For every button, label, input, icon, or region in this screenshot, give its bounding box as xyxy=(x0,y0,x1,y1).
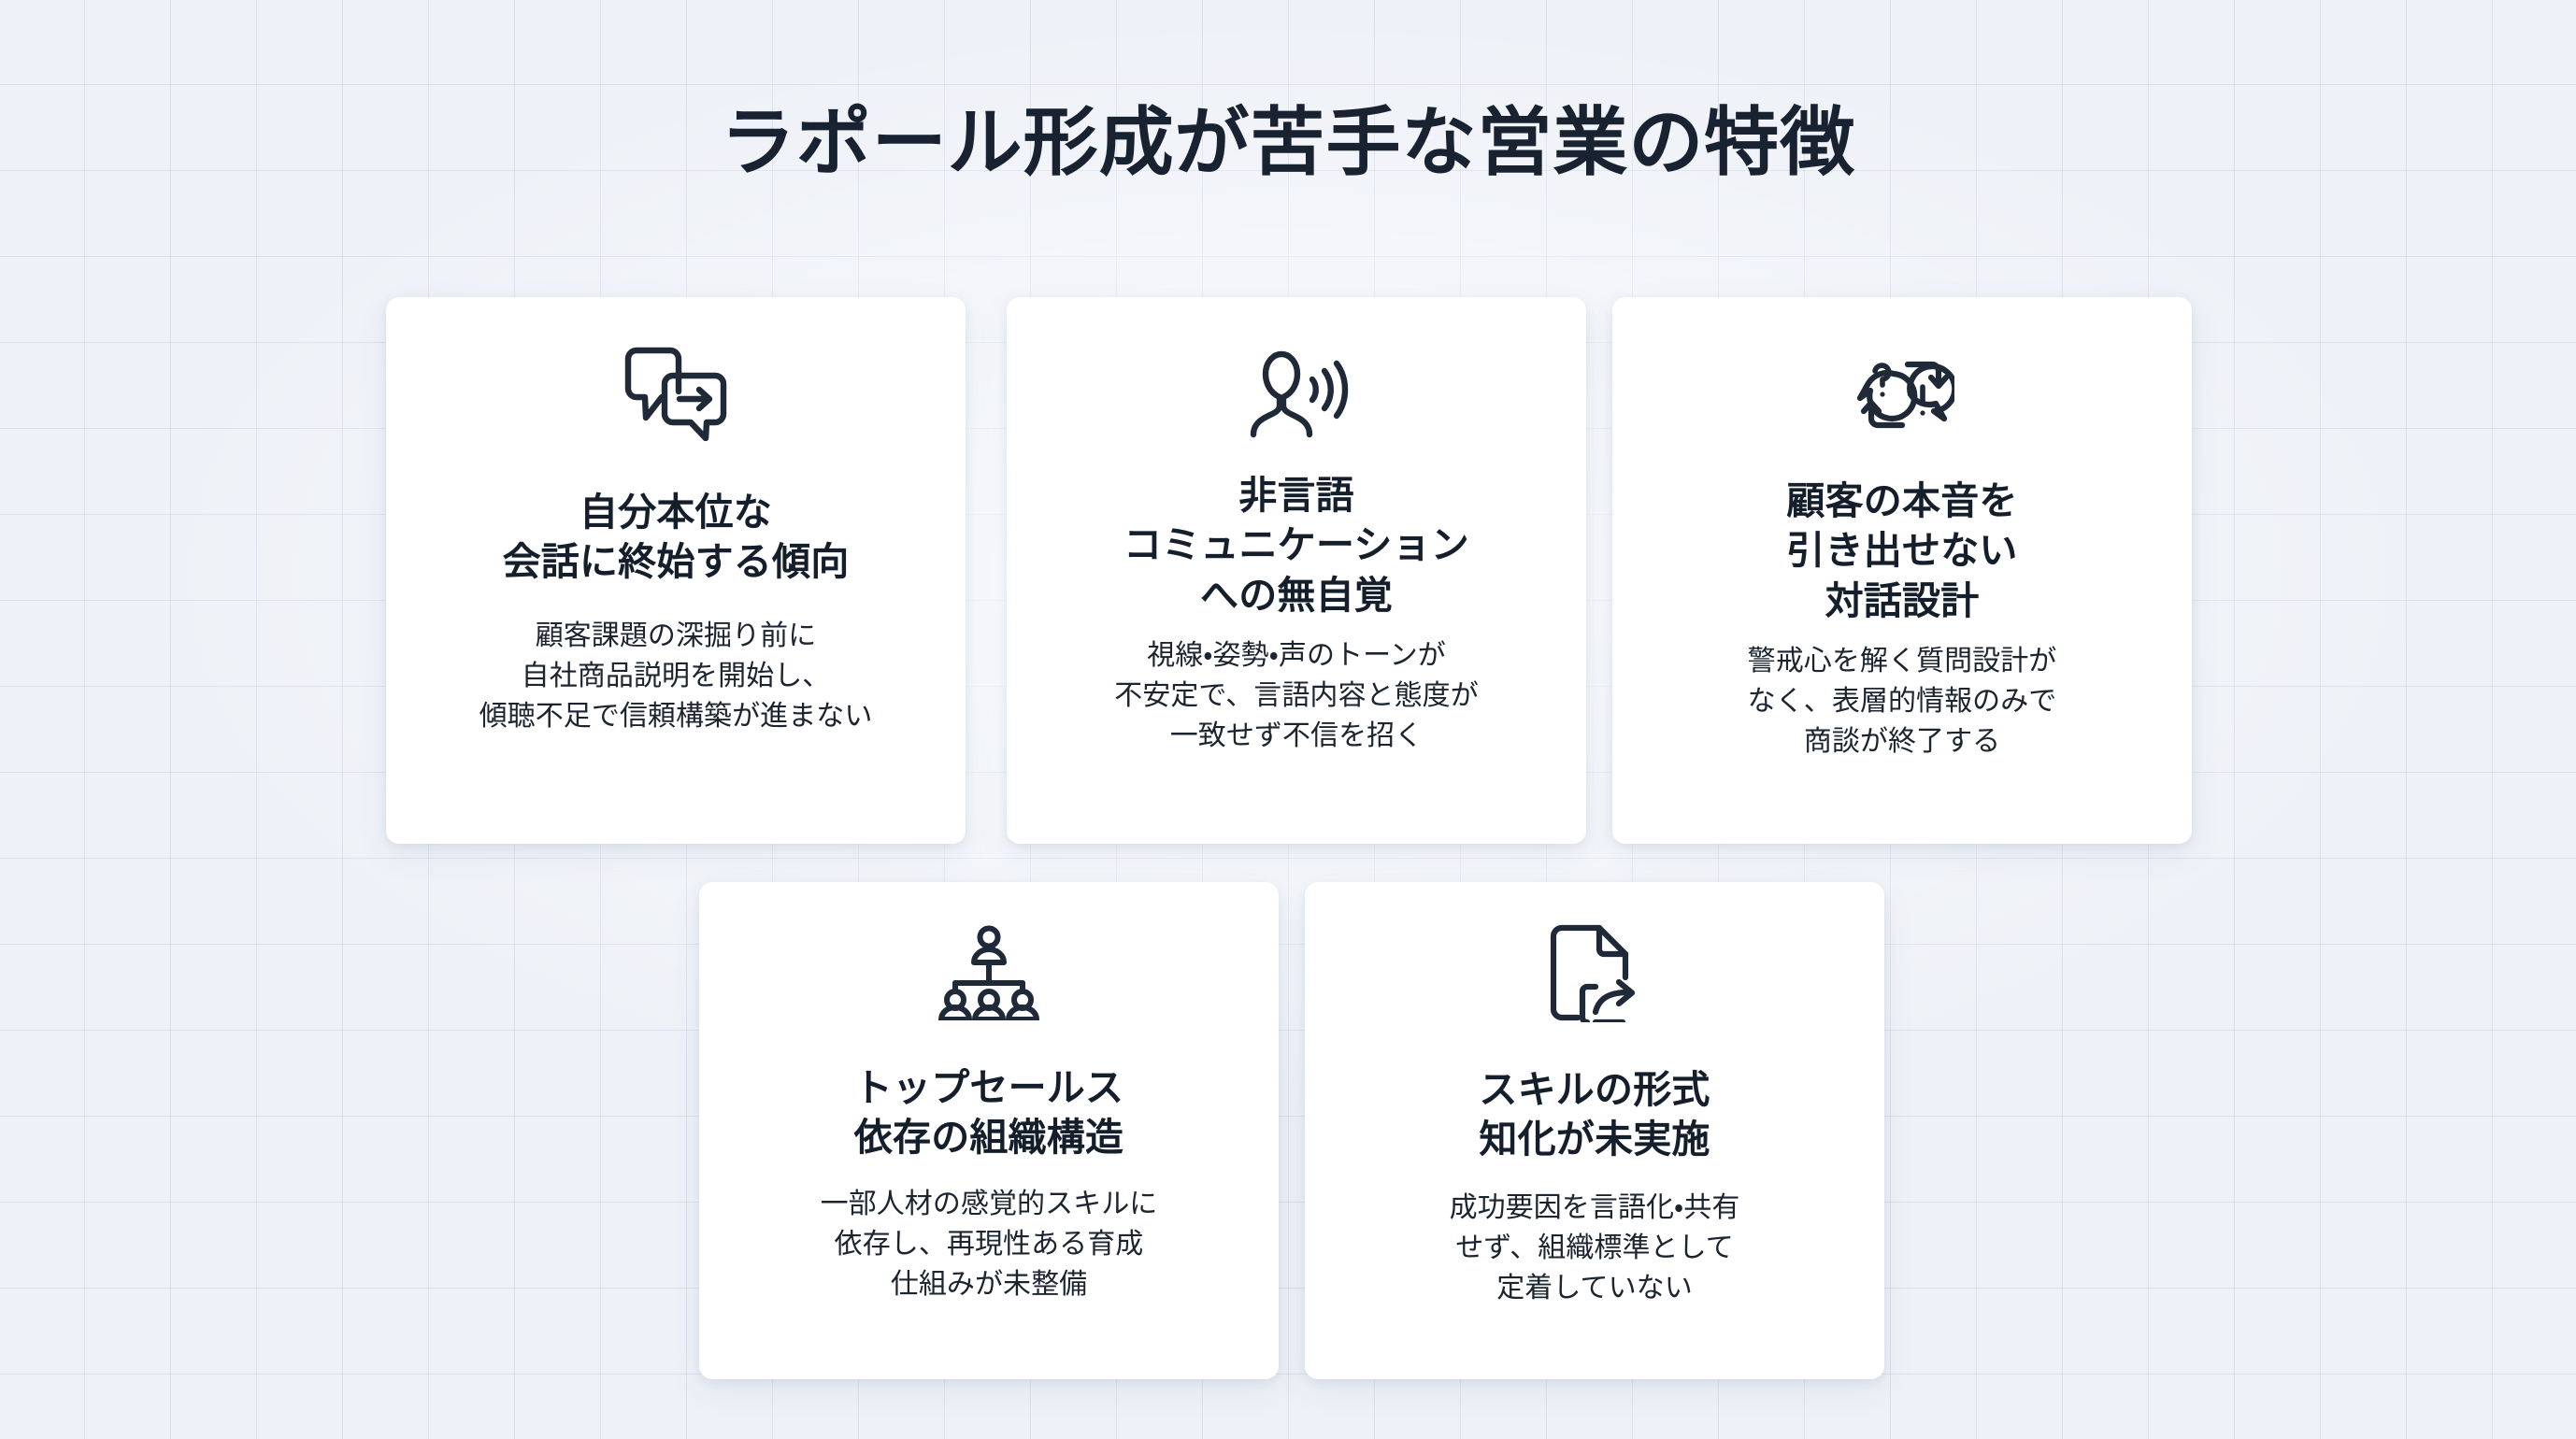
card-title: 非言語 コミュニケーション への無自覚 xyxy=(1023,471,1569,620)
question-exclamation-bubbles-icon xyxy=(1635,340,2169,445)
card-description: 一部人材の感覚的スキルに 依存し、再現性ある育成 仕組みが未整備 xyxy=(722,1184,1256,1305)
feature-card[interactable]: トップセールス 依存の組織構造 一部人材の感覚的スキルに 依存し、再現性ある育成… xyxy=(699,882,1279,1379)
page-title: ラポール形成が苦手な営業の特徴 xyxy=(0,99,2576,187)
feature-card[interactable]: 顧客の本音を 引き出せない 対話設計 警戒心を解く質問設計が なく、表層的情報の… xyxy=(1612,297,2192,844)
card-title: 顧客の本音を 引き出せない 対話設計 xyxy=(1635,477,2169,626)
person-speaking-waves-icon xyxy=(1023,340,1569,445)
feature-card[interactable]: 非言語 コミュニケーション への無自覚 視線・姿勢・声のトーンが 不安定で、言語… xyxy=(1007,297,1586,844)
card-title: スキルの形式 知化が未実施 xyxy=(1327,1065,1862,1165)
document-share-icon xyxy=(1327,921,1862,1024)
org-chart-people-icon xyxy=(722,921,1256,1024)
card-title: 自分本位な 会話に終始する傾向 xyxy=(408,488,943,588)
feature-card[interactable]: 自分本位な 会話に終始する傾向 顧客課題の深掘り前に 自社商品説明を開始し、 傾… xyxy=(386,297,966,844)
card-description: 成功要因を言語化・共有 せず、組織標準として 定着していない xyxy=(1327,1188,1862,1309)
card-description: 顧客課題の深掘り前に 自社商品説明を開始し、 傾聴不足で信頼構築が進まない xyxy=(408,616,943,737)
card-description: 視線・姿勢・声のトーンが 不安定で、言語内容と態度が 一致せず不信を招く xyxy=(1023,635,1569,757)
card-title: トップセールス 依存の組織構造 xyxy=(722,1063,1256,1163)
card-description: 警戒心を解く質問設計が なく、表層的情報のみで 商談が終了する xyxy=(1635,641,2169,762)
chat-bubbles-arrow-icon xyxy=(408,340,943,445)
slide-canvas: ラポール形成が苦手な営業の特徴 自分本位な 会話に終始する傾向 顧客課題の深掘り… xyxy=(0,0,2576,1439)
feature-card[interactable]: スキルの形式 知化が未実施 成功要因を言語化・共有 せず、組織標準として 定着し… xyxy=(1305,882,1884,1379)
